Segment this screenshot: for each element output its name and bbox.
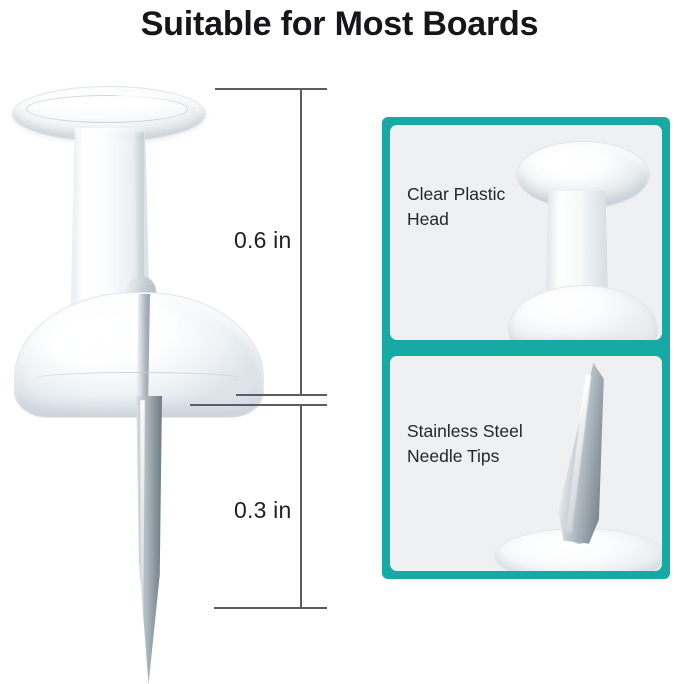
panel1-pin-base-shape: [508, 285, 658, 340]
dimension-tick-middle-upper: [236, 394, 327, 396]
feature-label-line-2: Needle Tips: [407, 444, 523, 469]
push-pin-illustration: [8, 80, 268, 620]
feature-label-stainless-steel-needle-tips: Stainless Steel Needle Tips: [407, 419, 523, 469]
dimension-label-head-height: 0.6 in: [234, 227, 291, 254]
feature-panel-clear-plastic-head: Clear Plastic Head: [390, 125, 662, 340]
dimension-label-needle-length: 0.3 in: [234, 497, 291, 524]
panel1-pin-shaft-shape: [546, 191, 608, 299]
dimension-tick-middle-lower: [190, 404, 327, 406]
feature-label-line-1: Stainless Steel: [407, 419, 523, 444]
pin-bell-gloss-highlight: [48, 318, 122, 374]
dimension-line-needle-length: [300, 404, 302, 608]
dimension-tick-bottom: [214, 607, 327, 609]
pin-shaft-highlight: [86, 136, 102, 322]
dimension-tick-top: [215, 88, 327, 90]
panel1-pin-head-gloss: [540, 151, 592, 171]
pin-steel-needle-shape: [134, 396, 162, 684]
pin-head-gloss-highlight: [112, 92, 170, 108]
feature-label-clear-plastic-head: Clear Plastic Head: [407, 182, 505, 232]
feature-label-line-1: Clear Plastic: [407, 182, 505, 207]
pin-bell-contour-line: [34, 372, 242, 385]
page-title: Suitable for Most Boards: [0, 2, 679, 46]
hero-product-image: [0, 60, 340, 618]
feature-panel-stainless-steel-needle-tips: Stainless Steel Needle Tips: [390, 356, 662, 571]
feature-label-line-2: Head: [407, 207, 505, 232]
dimension-line-head-height: [300, 88, 302, 395]
feature-panel-group: Clear Plastic Head Stainless Steel Needl…: [382, 117, 670, 579]
